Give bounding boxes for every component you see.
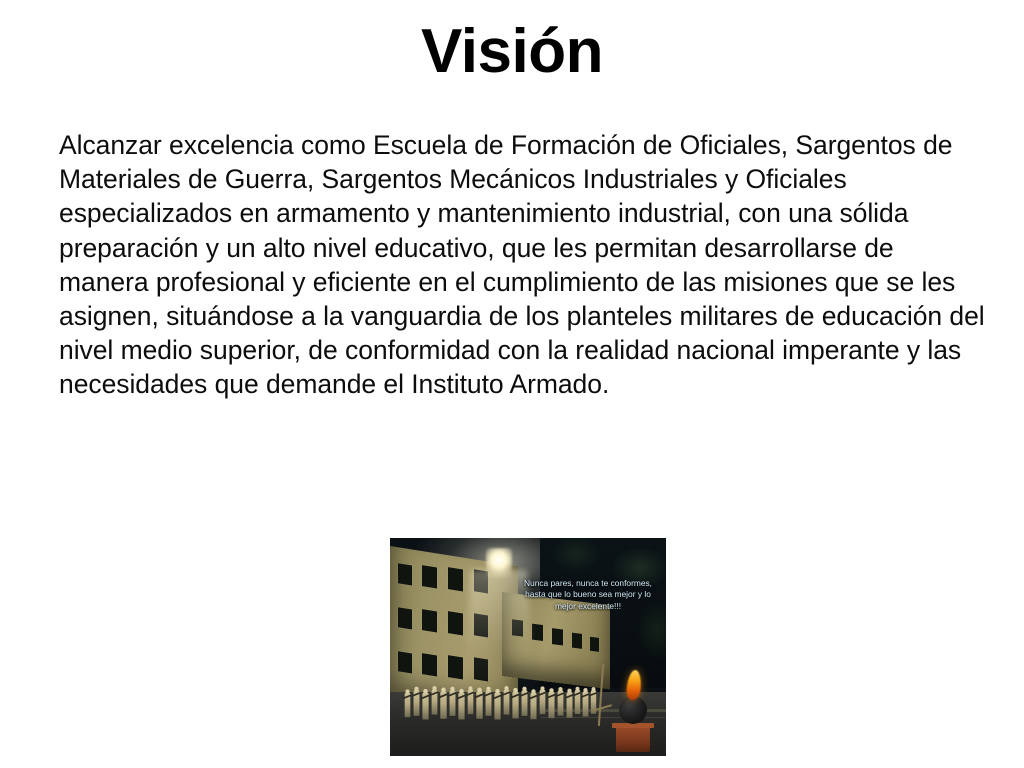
photo-cadet-column bbox=[404, 678, 594, 722]
photo-flame-monument bbox=[614, 660, 660, 752]
page-title: Visión bbox=[0, 18, 1024, 86]
presentation-slide: Visión Alcanzar excelencia como Escuela … bbox=[0, 0, 1024, 768]
slide-body-text: Alcanzar excelencia como Escuela de Form… bbox=[59, 128, 989, 402]
photo-overlay-caption: Nunca pares, nunca te conformes, hasta q… bbox=[516, 578, 660, 612]
photo-floodlight bbox=[486, 548, 512, 578]
photo-night-scene: Nunca pares, nunca te conformes, hasta q… bbox=[390, 538, 666, 756]
slide-photo: Nunca pares, nunca te conformes, hasta q… bbox=[390, 538, 666, 756]
